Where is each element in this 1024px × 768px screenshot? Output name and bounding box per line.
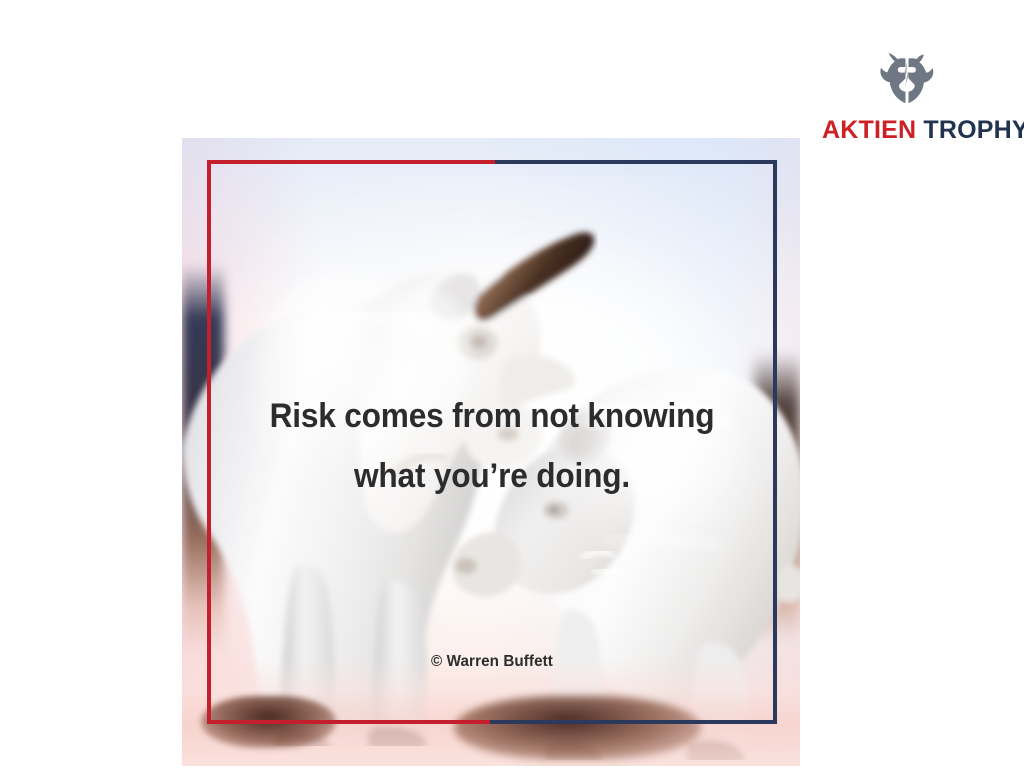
bull-bear-split-head-icon: [874, 44, 940, 112]
brand-name-aktien: AKTIEN: [822, 116, 916, 144]
quote-line-1: Risk comes from not knowing: [227, 386, 757, 446]
quote-attribution: © Warren Buffett: [221, 653, 763, 671]
brand-name-trophy: TROPHY: [923, 116, 1024, 144]
brand-logo[interactable]: AKTIEN TROPHY: [822, 44, 992, 154]
slide-canvas: Risk comes from not knowing what you’re …: [0, 0, 1024, 768]
bull-base-shadow: [201, 696, 337, 748]
brand-wordmark: AKTIEN TROPHY: [822, 118, 992, 143]
quote-text: Risk comes from not knowing what you’re …: [207, 386, 777, 506]
quote-line-2: what you’re doing.: [227, 446, 757, 506]
bear-base-shadow: [454, 696, 701, 760]
